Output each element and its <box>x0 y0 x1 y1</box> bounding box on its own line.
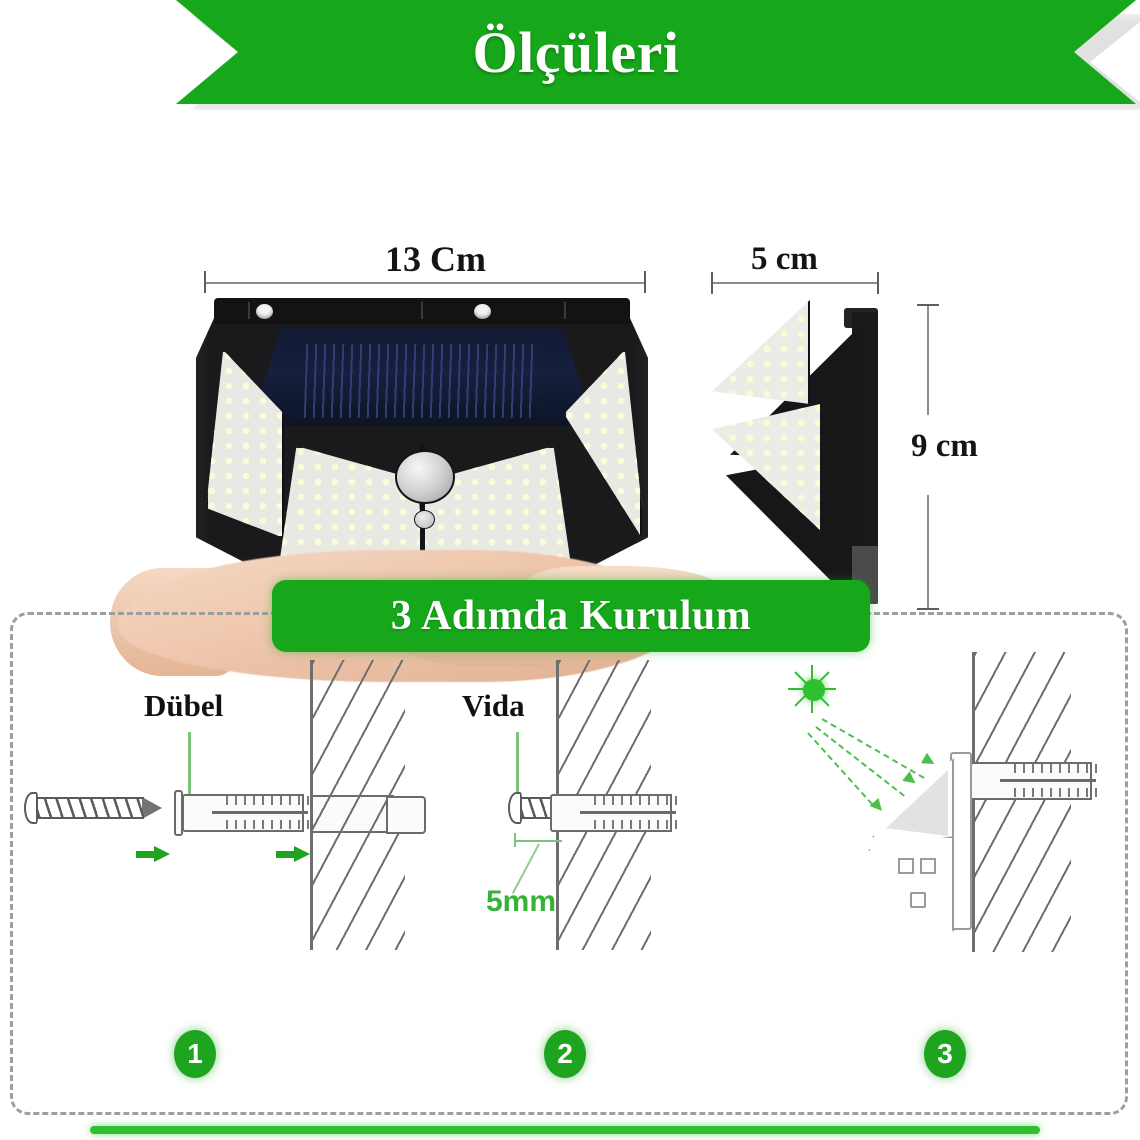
top-notch <box>248 302 250 319</box>
anchor-ribs-top <box>226 796 310 805</box>
mount-hole-left <box>256 304 273 319</box>
dimension-line-depth <box>712 282 878 284</box>
motion-sensor <box>395 450 455 504</box>
anchor-ribs-top <box>594 796 678 805</box>
anchor-center-line <box>212 811 308 814</box>
header-banner: Ölçüleri <box>0 0 1140 118</box>
lamp-indicator-1 <box>898 858 914 874</box>
dimension-cap-left <box>204 271 206 293</box>
sunlight-ray-arrowhead <box>921 753 937 769</box>
dimension-cap-height-top <box>917 304 939 306</box>
step-number-badge-3: 3 <box>924 1030 966 1078</box>
installation-title: 3 Adımda Kurulum <box>391 592 751 640</box>
step-number-badge-2: 2 <box>544 1030 586 1078</box>
dimension-cap-height-bottom <box>917 608 939 610</box>
banner-ribbon: Ölçüleri <box>176 0 1136 104</box>
install-step-3: 3 <box>764 640 1124 1110</box>
solar-cell-grid <box>304 344 540 418</box>
lamp-indicator-2 <box>920 858 936 874</box>
anchor-ribs-top <box>1014 764 1098 773</box>
step1-label: Dübel <box>144 688 223 724</box>
product-side-view <box>712 300 892 620</box>
install-step-2: Vida 5mm 2 <box>404 640 764 1110</box>
anchor-center-line <box>580 811 676 814</box>
lamp-lower-wedge <box>868 836 954 932</box>
screw-head <box>24 792 38 824</box>
lamp-button <box>910 892 926 908</box>
dimensions-section: 13 Cm 5 cm 9 cm <box>0 110 1140 590</box>
wall-hatching <box>975 652 1071 952</box>
dimension-label-height: 9 cm <box>911 428 978 465</box>
dimension-label-width: 13 Cm <box>385 238 486 280</box>
dimension-cap-depth-left <box>711 272 713 294</box>
side-led-panel-upper <box>712 300 810 404</box>
gap-measure-line <box>514 840 562 842</box>
gap-measure-label: 5mm <box>486 885 556 919</box>
dimension-cap-right <box>644 271 646 293</box>
page-title: Ölçüleri <box>473 19 680 86</box>
dimension-line-height-bottom <box>927 495 929 610</box>
anchor-ribs-bottom <box>1014 788 1098 797</box>
light-sensor <box>414 510 435 529</box>
sun-icon <box>786 662 840 716</box>
flow-arrow <box>276 846 310 862</box>
screw-tip <box>142 797 162 819</box>
screw-head <box>508 792 522 824</box>
solar-panel <box>250 328 594 426</box>
sunlight-ray-arrowhead <box>870 798 887 815</box>
screw-shank <box>38 797 144 819</box>
top-notch <box>564 302 566 319</box>
dimension-cap-depth-right <box>877 272 879 294</box>
anchor-ribs-bottom <box>594 820 678 829</box>
top-notch <box>421 302 423 319</box>
incoming-anchor-tail <box>386 796 426 834</box>
step2-label: Vida <box>462 688 525 724</box>
mount-hole-right <box>474 304 491 319</box>
dimension-line-height-top <box>927 305 929 415</box>
install-step-1: Dübel 1 <box>14 640 404 1110</box>
sunlight-ray-arrow <box>815 726 904 797</box>
step-number-badge-1: 1 <box>174 1030 216 1078</box>
dimension-label-depth: 5 cm <box>751 241 818 278</box>
flow-arrow <box>136 846 170 862</box>
gap-measure-cap <box>514 833 516 847</box>
bottom-accent-bar <box>90 1126 1040 1134</box>
dimension-line-width <box>205 282 645 284</box>
anchor-ribs-bottom <box>226 820 310 829</box>
anchor-center-line <box>1000 779 1096 782</box>
